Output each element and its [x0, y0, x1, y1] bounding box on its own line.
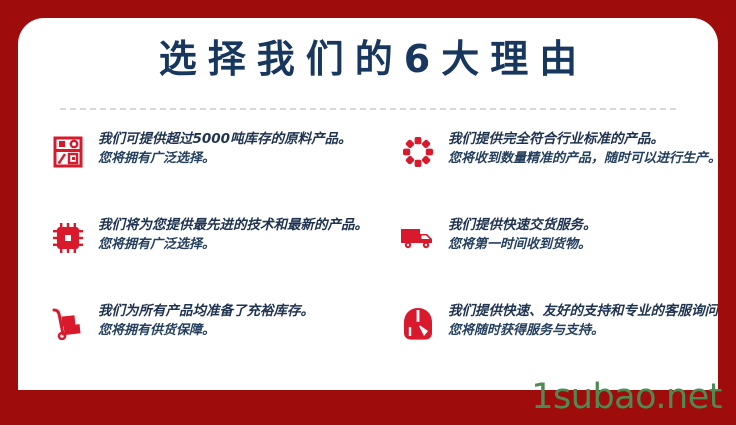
- page-title: 选择我们的6大理由: [18, 34, 718, 84]
- reason-item-6: 我们提供快速、友好的支持和专业的客服询问。 您将随时获得服务与支持。: [368, 296, 718, 382]
- reason-item-3: 我们将为您提供最先进的技术和最新的产品。 您将拥有广泛选择。: [18, 210, 368, 296]
- title-divider: [60, 108, 676, 110]
- reason-line2: 您将第一时间收到货物。: [448, 235, 597, 254]
- reason-text-3: 我们将为您提供最先进的技术和最新的产品。 您将拥有广泛选择。: [98, 210, 368, 254]
- reason-line2: 您将拥有广泛选择。: [98, 149, 352, 168]
- reason-line2: 您将收到数量精准的产品，随时可以进行生产。: [448, 149, 718, 168]
- reason-line1: 我们为所有产品均准备了充裕库存。: [98, 302, 314, 321]
- reason-line2: 您将拥有供货保障。: [98, 321, 314, 340]
- reason-line1: 我们提供快速、友好的支持和专业的客服询问。: [448, 302, 718, 321]
- reason-text-4: 我们提供快速交货服务。 您将第一时间收到货物。: [448, 210, 597, 254]
- warehouse-shelf-icon: [46, 128, 90, 176]
- white-content-card: 选择我们的6大理由: [18, 18, 718, 390]
- headset-support-icon: [396, 300, 440, 348]
- reason-line1: 我们可提供超过5000吨库存的原料产品。: [98, 130, 352, 149]
- quality-ring-icon: [396, 128, 440, 176]
- reason-item-5: 我们为所有产品均准备了充裕库存。 您将拥有供货保障。: [18, 296, 368, 382]
- reason-line1: 我们将为您提供最先进的技术和最新的产品。: [98, 216, 368, 235]
- reason-item-2: 我们提供完全符合行业标准的产品。 您将收到数量精准的产品，随时可以进行生产。: [368, 124, 718, 210]
- delivery-truck-icon: [396, 214, 440, 262]
- reason-line2: 您将拥有广泛选择。: [98, 235, 368, 254]
- hand-truck-icon: [46, 300, 90, 348]
- site-watermark: 1subao.net: [531, 377, 722, 417]
- reason-text-5: 我们为所有产品均准备了充裕库存。 您将拥有供货保障。: [98, 296, 314, 340]
- microchip-icon: [46, 214, 90, 262]
- reasons-grid: 我们可提供超过5000吨库存的原料产品。 您将拥有广泛选择。: [18, 124, 718, 382]
- reason-item-4: 我们提供快速交货服务。 您将第一时间收到货物。: [368, 210, 718, 296]
- reason-line1: 我们提供完全符合行业标准的产品。: [448, 130, 718, 149]
- reason-line1: 我们提供快速交货服务。: [448, 216, 597, 235]
- reason-item-1: 我们可提供超过5000吨库存的原料产品。 您将拥有广泛选择。: [18, 124, 368, 210]
- reason-text-2: 我们提供完全符合行业标准的产品。 您将收到数量精准的产品，随时可以进行生产。: [448, 124, 718, 168]
- promo-poster: 选择我们的6大理由: [0, 0, 736, 425]
- reason-line2: 您将随时获得服务与支持。: [448, 321, 718, 340]
- reason-text-6: 我们提供快速、友好的支持和专业的客服询问。 您将随时获得服务与支持。: [448, 296, 718, 340]
- reason-text-1: 我们可提供超过5000吨库存的原料产品。 您将拥有广泛选择。: [98, 124, 352, 168]
